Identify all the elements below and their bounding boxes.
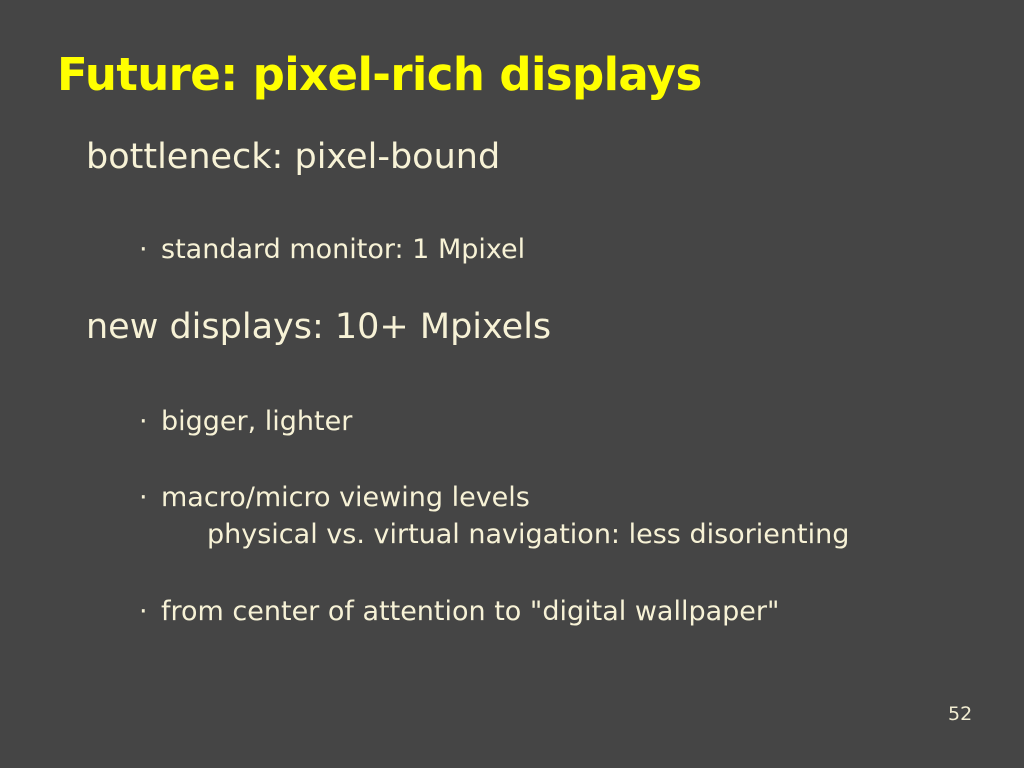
- page-number: 52: [948, 703, 972, 725]
- bullet-dot-icon: ·: [139, 484, 161, 511]
- presentation-slide: Future: pixel-rich displays bottleneck: …: [0, 0, 1024, 768]
- content-text: new displays: 10+ Mpixels: [86, 307, 551, 347]
- sub-line-physical-vs-virtual: physical vs. virtual navigation: less di…: [207, 521, 849, 548]
- content-text: bottleneck: pixel-bound: [86, 137, 500, 177]
- content-line-bottleneck: bottleneck: pixel-bound: [86, 140, 500, 175]
- slide-body: bottleneck: pixel-bound ·standard monito…: [0, 0, 1024, 768]
- bullet-dot-icon: ·: [139, 408, 161, 435]
- bullet-item-standard-monitor: ·standard monitor: 1 Mpixel: [139, 236, 525, 263]
- content-text: macro/micro viewing levels: [161, 482, 530, 513]
- content-line-new-displays: new displays: 10+ Mpixels: [86, 310, 551, 345]
- content-text: bigger, lighter: [161, 406, 352, 437]
- content-text: standard monitor: 1 Mpixel: [161, 234, 525, 265]
- bullet-dot-icon: ·: [139, 598, 161, 625]
- bullet-item-bigger-lighter: ·bigger, lighter: [139, 408, 352, 435]
- bullet-item-macro-micro: ·macro/micro viewing levels: [139, 484, 530, 511]
- content-text: physical vs. virtual navigation: less di…: [207, 519, 849, 550]
- content-text: from center of attention to "digital wal…: [161, 596, 779, 627]
- bullet-item-digital-wallpaper: ·from center of attention to "digital wa…: [139, 598, 779, 625]
- bullet-dot-icon: ·: [139, 236, 161, 263]
